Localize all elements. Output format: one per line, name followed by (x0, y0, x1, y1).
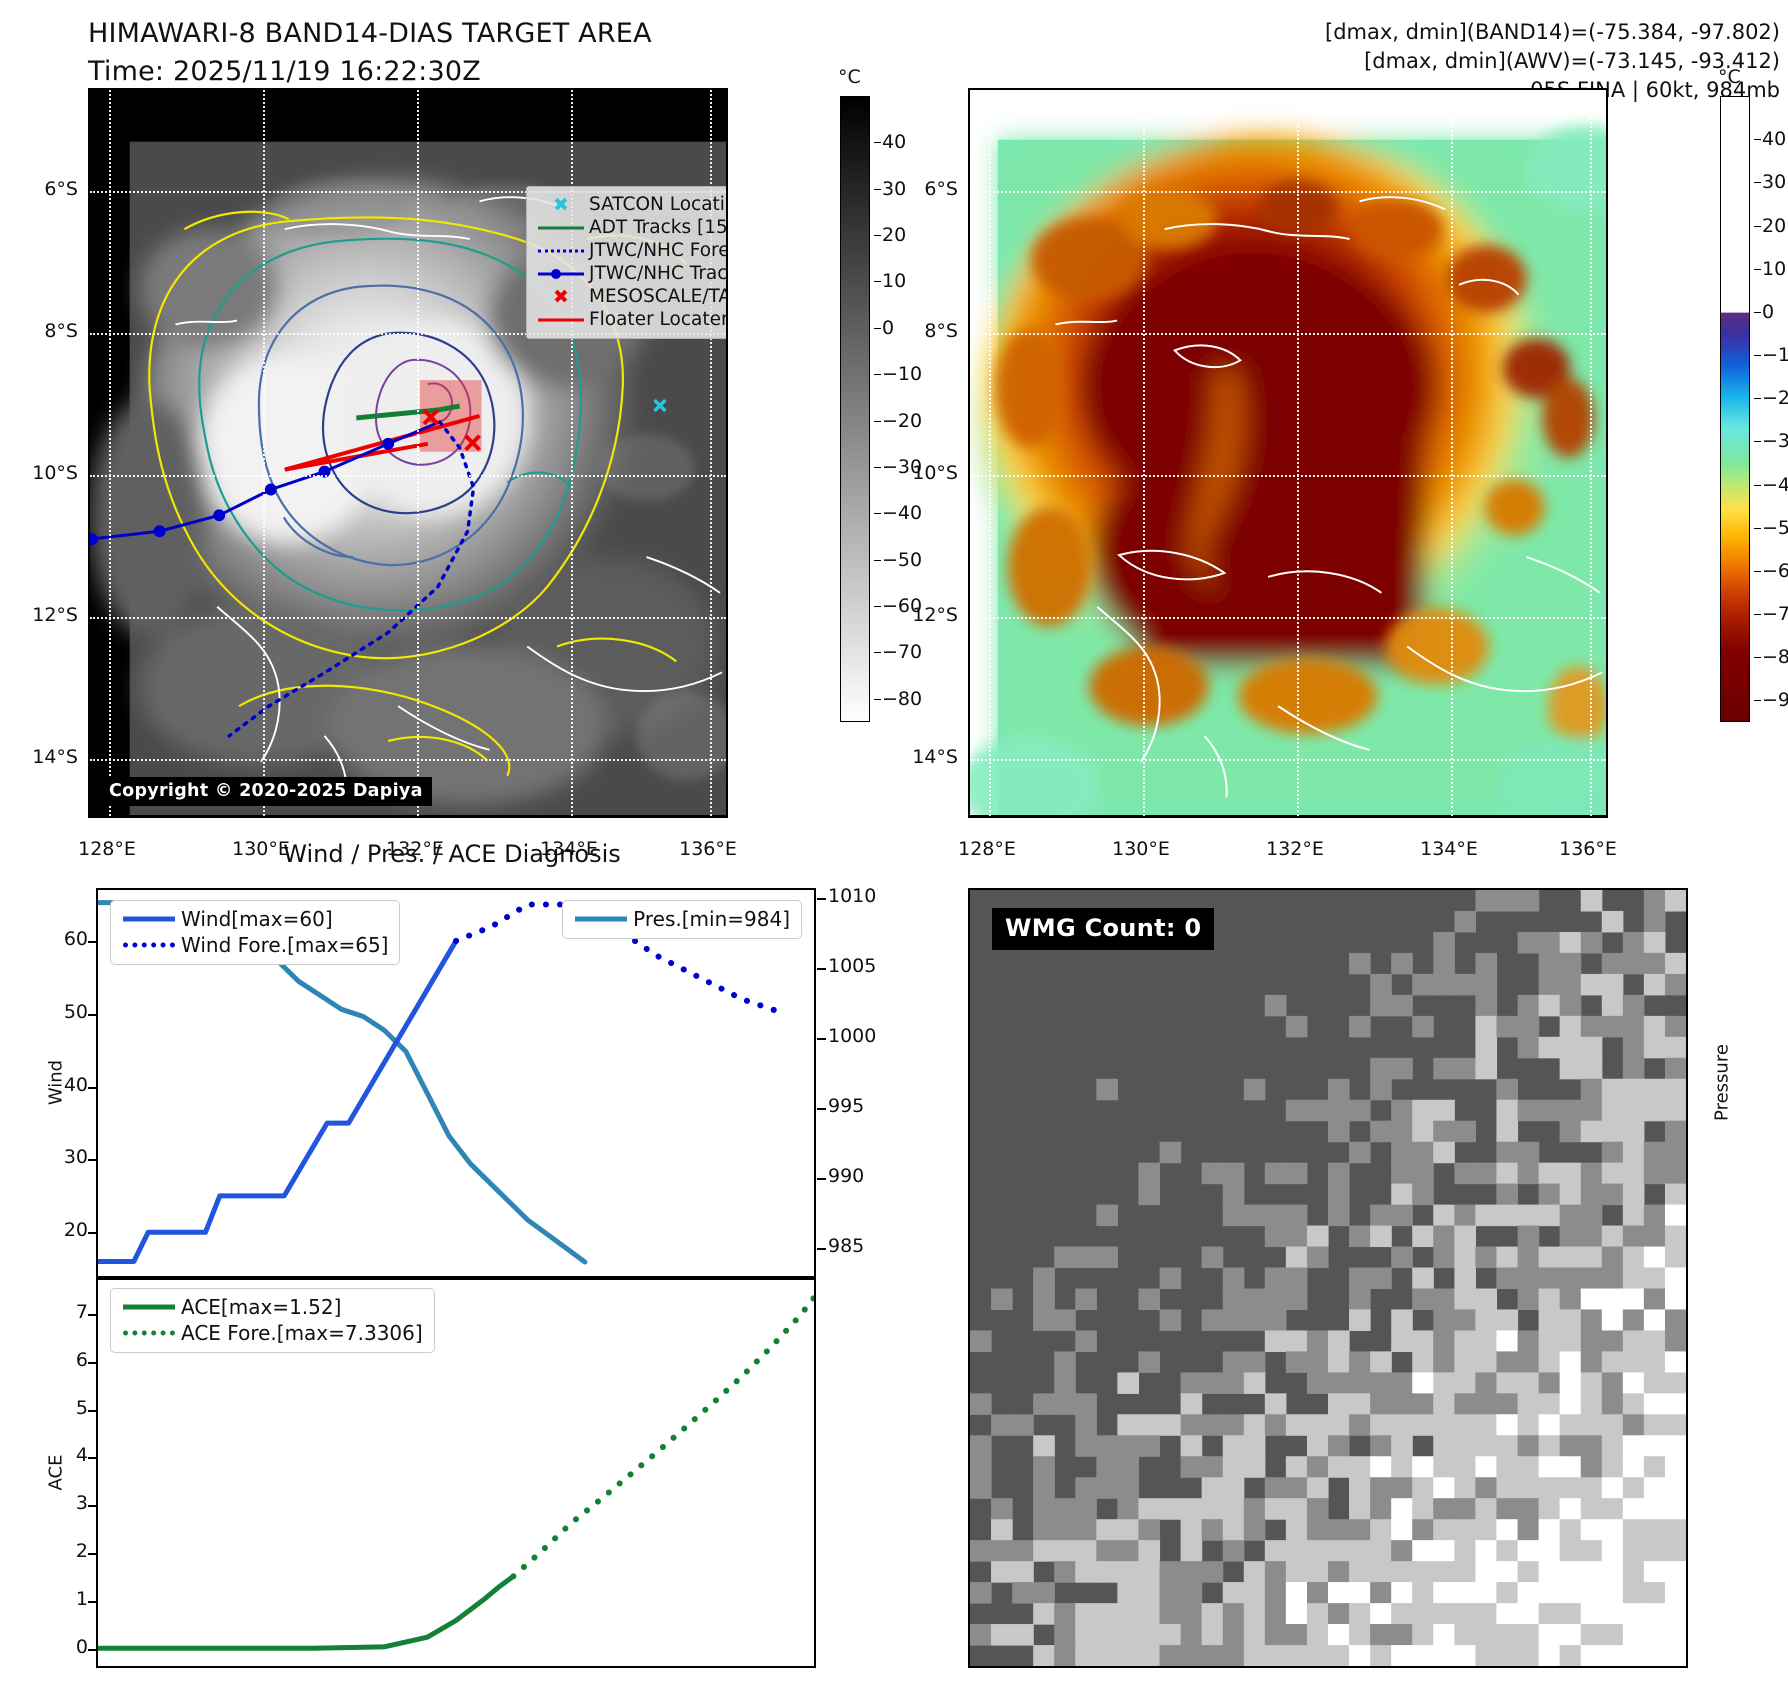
wmg-cell (970, 1435, 992, 1457)
lat-tick-6s: 6°S (880, 178, 958, 200)
wmg-panel[interactable]: WMG Count: 0 (968, 888, 1688, 1668)
wmg-cell (1286, 1582, 1308, 1604)
wmg-cell (1370, 1519, 1392, 1541)
wmg-cell (1370, 1540, 1392, 1562)
wmg-cell (1370, 1393, 1392, 1415)
ace-tick (88, 1553, 97, 1555)
wmg-cell (1539, 1498, 1561, 1520)
lon-tick-128e: 128°E (958, 838, 1016, 860)
wmg-cell (1475, 1058, 1497, 1080)
wmg-cell (1454, 1058, 1476, 1080)
legend-item-pressure: Pres.[min=984] (571, 906, 790, 932)
wmg-cell (1433, 1477, 1455, 1499)
wmg-cell (1391, 1393, 1413, 1415)
wmg-cell (1560, 1393, 1582, 1415)
wmg-cell (1181, 1582, 1203, 1604)
wmg-cell (1391, 1624, 1413, 1646)
wmg-cell (1581, 1100, 1603, 1122)
colorbar-tick-label: −60 (1762, 560, 1788, 582)
wmg-cell (1496, 1372, 1518, 1394)
wmg-cell (1475, 974, 1497, 996)
wmg-cell (1581, 974, 1603, 996)
wmg-cell (1412, 1645, 1434, 1666)
wmg-cell (1244, 1414, 1266, 1436)
wmg-cell (1602, 1477, 1624, 1499)
wmg-cell (1433, 1393, 1455, 1415)
wmg-cell (1370, 1477, 1392, 1499)
wmg-cell (1602, 1351, 1624, 1373)
wmg-cell (1412, 1561, 1434, 1583)
wmg-cell (1496, 1267, 1518, 1289)
wmg-cell (1602, 1309, 1624, 1331)
wmg-cell (1370, 1603, 1392, 1625)
wmg-cell (1244, 1603, 1266, 1625)
wmg-cell (1328, 1393, 1350, 1415)
wmg-cell (1602, 1645, 1624, 1666)
wmg-cell (1665, 1414, 1686, 1436)
wmg-cell (1454, 1289, 1476, 1311)
wmg-cell (1539, 932, 1561, 954)
colorbar-tick (1754, 355, 1761, 356)
wmg-cell (1012, 1414, 1034, 1436)
wmg-cell (1202, 1414, 1224, 1436)
wmg-cell (1096, 1519, 1118, 1541)
copyright-stamp: Copyright © 2020-2025 Dapiya (100, 777, 432, 806)
wmg-cell (1496, 1603, 1518, 1625)
wmg-cell (1475, 1624, 1497, 1646)
wind-tick-label: 30 (40, 1146, 88, 1168)
wmg-cell (1560, 1645, 1582, 1666)
wmg-cell (1412, 1498, 1434, 1520)
pressure-tick (817, 898, 826, 900)
wmg-cell (1075, 1289, 1097, 1311)
wmg-cell (1496, 1016, 1518, 1038)
wmg-cell (1581, 1393, 1603, 1415)
wmg-cell (1223, 1645, 1245, 1666)
wmg-cell (1370, 1435, 1392, 1457)
colorbar-tick-label: −50 (882, 549, 922, 571)
wmg-cell (1454, 1247, 1476, 1269)
wmg-cell (1581, 1414, 1603, 1436)
wmg-cell (1581, 1163, 1603, 1185)
wmg-cell (1391, 1456, 1413, 1478)
wmg-cell (1454, 974, 1476, 996)
colorbar-tick-label: 20 (882, 224, 906, 246)
wmg-cell (1602, 1016, 1624, 1038)
wmg-cell (1286, 1456, 1308, 1478)
wmg-cell (1623, 1351, 1645, 1373)
wmg-cell (991, 1561, 1013, 1583)
wmg-cell (1033, 1477, 1055, 1499)
wmg-cell (1518, 995, 1540, 1017)
solid-line-icon (535, 216, 589, 239)
wmg-cell (1349, 1645, 1371, 1666)
wmg-cell (1644, 1037, 1666, 1059)
lon-tick-134e: 134°E (1420, 838, 1478, 860)
wmg-cell (1202, 1603, 1224, 1625)
wmg-cell (1181, 1561, 1203, 1583)
wmg-cell (1581, 1330, 1603, 1352)
wmg-cell (1328, 1435, 1350, 1457)
wmg-cell (1665, 1477, 1686, 1499)
ace-tick-label: 1 (40, 1588, 88, 1610)
pressure-tick-label: 1010 (828, 885, 876, 907)
wmg-cell (1096, 1477, 1118, 1499)
wmg-cell (1160, 1498, 1182, 1520)
wmg-cell (1117, 1414, 1139, 1436)
wmg-cell (1454, 1540, 1476, 1562)
wmg-cell (1475, 1477, 1497, 1499)
wmg-cell (1349, 1582, 1371, 1604)
wmg-cell (1518, 1247, 1540, 1269)
wmg-cell (1539, 1477, 1561, 1499)
wmg-cell (1265, 1645, 1287, 1666)
wmg-cell (1560, 1309, 1582, 1331)
wmg-cell (1096, 1645, 1118, 1666)
wmg-cell (1307, 1498, 1329, 1520)
lat-tick-6s: 6°S (0, 178, 78, 200)
wmg-cell (1349, 1414, 1371, 1436)
wmg-cell (1518, 1435, 1540, 1457)
wmg-cell (1117, 1624, 1139, 1646)
wmg-cell (1602, 1603, 1624, 1625)
wmg-cell (1518, 1372, 1540, 1394)
wmg-cell (1496, 890, 1518, 912)
wmg-cell (1539, 1414, 1561, 1436)
wmg-cell (1454, 1393, 1476, 1415)
wmg-cell (1623, 1330, 1645, 1352)
wmg-cell (1223, 1456, 1245, 1478)
wmg-cell (1307, 1477, 1329, 1499)
wmg-cell (1412, 1477, 1434, 1499)
wmg-cell (1475, 1393, 1497, 1415)
wind-pressure-chart[interactable]: Wind[max=60] Wind Fore.[max=65] Pres.[mi… (96, 888, 816, 1278)
wmg-cell (1075, 1519, 1097, 1541)
wmg-cell (1349, 1624, 1371, 1646)
wmg-cell (1539, 1330, 1561, 1352)
wmg-cell (1307, 1414, 1329, 1436)
colorbar-tick (1754, 614, 1761, 615)
wmg-cell (1644, 1645, 1666, 1666)
colorbar-tick-label: −70 (1762, 603, 1788, 625)
wmg-cell (1349, 1309, 1371, 1331)
chart-series-observed (98, 941, 456, 1262)
wmg-cell (1433, 1372, 1455, 1394)
wmg-cell (1602, 1519, 1624, 1541)
wmg-cell (1265, 1330, 1287, 1352)
wmg-cell (1223, 1603, 1245, 1625)
wmg-cell (1117, 1372, 1139, 1394)
wmg-cell (1433, 1582, 1455, 1604)
wmg-cell (1644, 1289, 1666, 1311)
wmg-cell (1075, 1645, 1097, 1666)
wmg-cell (1560, 1519, 1582, 1541)
wmg-cell (1181, 1414, 1203, 1436)
wmg-cell (1496, 1435, 1518, 1457)
wmg-cell (1033, 1603, 1055, 1625)
wmg-cell (1012, 1561, 1034, 1583)
wmg-cell (1644, 1498, 1666, 1520)
wmg-cell (1054, 1351, 1076, 1373)
colorbar-tick-label: −20 (882, 410, 922, 432)
wmg-cell (1286, 1603, 1308, 1625)
wmg-cell (1075, 1247, 1097, 1269)
ace-tick (88, 1601, 97, 1603)
wmg-cell (1054, 1519, 1076, 1541)
wmg-cell (1475, 1603, 1497, 1625)
wmg-cell (1349, 1477, 1371, 1499)
wmg-cell (1223, 1477, 1245, 1499)
wmg-cell (1117, 1645, 1139, 1666)
wmg-cell (1075, 1561, 1097, 1583)
wmg-cell (1602, 1267, 1624, 1289)
wmg-cell (1244, 1435, 1266, 1457)
wmg-cell (1412, 1142, 1434, 1164)
wmg-cell (1560, 1226, 1582, 1248)
wmg-cell (1602, 1456, 1624, 1478)
wmg-cell (1244, 1372, 1266, 1394)
wmg-cell (1644, 1519, 1666, 1541)
colorbar-tick (1754, 269, 1761, 270)
colorbar-tick (874, 281, 881, 282)
colorbar-tick-label: −90 (1762, 689, 1788, 711)
ace-axis-label: ACE (46, 1413, 67, 1533)
wmg-cell (1496, 1205, 1518, 1227)
colorbar-tick-label: −40 (1762, 474, 1788, 496)
wmg-cell (1560, 1561, 1582, 1583)
wmg-cell (1096, 1624, 1118, 1646)
wmg-cell (1665, 1163, 1686, 1185)
wmg-cell (1391, 1519, 1413, 1541)
wmg-cell (1623, 1309, 1645, 1331)
wmg-cell (1454, 1624, 1476, 1646)
wmg-cell (1539, 1582, 1561, 1604)
wmg-cell (1539, 1037, 1561, 1059)
wmg-cell (1623, 1267, 1645, 1289)
wmg-cell (1412, 1163, 1434, 1185)
wmg-cell (1138, 1184, 1160, 1206)
wmg-cell (1328, 1372, 1350, 1394)
wmg-cell (1202, 1477, 1224, 1499)
wmg-cell (1623, 1414, 1645, 1436)
wmg-cell (1265, 1309, 1287, 1331)
wmg-cell (1518, 1414, 1540, 1436)
wmg-cell (1454, 1435, 1476, 1457)
wmg-cell (1391, 1142, 1413, 1164)
wmg-cell (1265, 1582, 1287, 1604)
pressure-tick-label: 1000 (828, 1025, 876, 1047)
ace-tick (88, 1505, 97, 1507)
wmg-cell (1602, 1079, 1624, 1101)
wmg-cell (1391, 1247, 1413, 1269)
wmg-cell (1644, 1247, 1666, 1269)
wmg-cell (1223, 1519, 1245, 1541)
wmg-cell (1349, 1519, 1371, 1541)
wmg-cell (1412, 1351, 1434, 1373)
wmg-cell (1581, 1289, 1603, 1311)
ir-satellite-map[interactable]: ✖ SATCON Locations [NONE] ADT Tracks [15… (88, 88, 728, 818)
wmg-cell (1244, 1561, 1266, 1583)
wmg-cell (1581, 1372, 1603, 1394)
ace-tick-label: 6 (40, 1349, 88, 1371)
wmg-cell (1012, 1540, 1034, 1562)
wmg-cell (1581, 1247, 1603, 1269)
wmg-cell (1054, 1603, 1076, 1625)
wmg-cell (1644, 1435, 1666, 1457)
wmg-cell (1518, 1226, 1540, 1248)
wmg-cell (1433, 1289, 1455, 1311)
pressure-tick (817, 1178, 826, 1180)
wmg-cell (1391, 1498, 1413, 1520)
wmg-cell (1644, 890, 1666, 912)
wmg-cell (1539, 974, 1561, 996)
wmg-cell (1644, 1456, 1666, 1478)
wmg-cell (1223, 1414, 1245, 1436)
wmg-cell (1602, 1184, 1624, 1206)
wmg-cell (1623, 1142, 1645, 1164)
wmg-cell (1075, 1498, 1097, 1520)
wmg-cell (1370, 974, 1392, 996)
wmg-cell (1496, 1414, 1518, 1436)
wmg-cell (1602, 974, 1624, 996)
wmg-cell (1307, 1519, 1329, 1541)
wmg-cell (1433, 1456, 1455, 1478)
wmg-cell (1665, 1184, 1686, 1206)
wmg-cell (1391, 1309, 1413, 1331)
pressure-axis-label: Pressure (1712, 1023, 1733, 1143)
wmg-cell (1518, 1561, 1540, 1583)
wmg-cell (1623, 1372, 1645, 1394)
wmg-cell (1244, 1519, 1266, 1541)
wmg-cell (1202, 1456, 1224, 1478)
wmg-cell (1602, 995, 1624, 1017)
wmg-cell (1160, 1603, 1182, 1625)
wmg-cell (1581, 890, 1603, 912)
wmg-cell (1433, 1519, 1455, 1541)
wmg-cell (1454, 1309, 1476, 1331)
wmg-cell (1560, 932, 1582, 954)
wmg-cell (1496, 1184, 1518, 1206)
wmg-cell (1539, 1163, 1561, 1185)
wmg-cell (1518, 1645, 1540, 1666)
wmg-cell (1138, 1414, 1160, 1436)
wmg-cell (1433, 932, 1455, 954)
wmg-cell (1328, 1561, 1350, 1583)
wmg-cell (1454, 1477, 1476, 1499)
wmg-cell (1412, 1414, 1434, 1436)
wmg-cell (1623, 1645, 1645, 1666)
wmg-cell (1244, 1351, 1266, 1373)
wmg-cell (1475, 1351, 1497, 1373)
wmg-cell (1328, 1351, 1350, 1373)
wmg-cell (1433, 1330, 1455, 1352)
wmg-cell (1286, 1100, 1308, 1122)
wmg-cell (1412, 1519, 1434, 1541)
wmg-grid-image (970, 890, 1686, 1666)
wmg-cell (1454, 1226, 1476, 1248)
wmg-cell (1581, 1037, 1603, 1059)
wmg-cell (1581, 1540, 1603, 1562)
wmg-cell (1433, 1561, 1455, 1583)
awv-satellite-map[interactable] (968, 88, 1608, 818)
colorbar-tick (1754, 312, 1761, 313)
wmg-cell (1644, 1330, 1666, 1352)
wmg-cell (1075, 1624, 1097, 1646)
wmg-cell (1328, 1456, 1350, 1478)
wmg-cell (1349, 1267, 1371, 1289)
wmg-cell (1518, 1393, 1540, 1415)
wmg-cell (1560, 1330, 1582, 1352)
ace-chart[interactable]: ACE[max=1.52] ACE Fore.[max=7.3306] (96, 1278, 816, 1668)
wmg-cell (1560, 1456, 1582, 1478)
page-timestamp: Time: 2025/11/19 16:22:30Z (88, 56, 652, 87)
wmg-cell (1307, 1247, 1329, 1269)
ir-colorbar-title: °C (838, 66, 861, 88)
colorbar-tick-label: 40 (882, 131, 906, 153)
wmg-cell (1412, 1267, 1434, 1289)
ace-tick (88, 1457, 97, 1459)
wmg-cell (1623, 1456, 1645, 1478)
wmg-cell (1644, 1351, 1666, 1373)
wmg-cell (1518, 1498, 1540, 1520)
ace-legend: ACE[max=1.52] ACE Fore.[max=7.3306] (110, 1288, 435, 1353)
wmg-cell (1096, 1456, 1118, 1478)
wmg-cell (1665, 1247, 1686, 1269)
wmg-cell (1202, 1645, 1224, 1666)
wmg-cell (1075, 1477, 1097, 1499)
wmg-cell (1202, 1561, 1224, 1583)
wmg-cell (1581, 1184, 1603, 1206)
legend-label: ACE Fore.[max=7.3306] (181, 1321, 423, 1345)
wmg-cell (1433, 1309, 1455, 1331)
wmg-cell (1623, 1016, 1645, 1038)
pressure-tick-label: 985 (828, 1235, 864, 1257)
wmg-cell (1181, 1435, 1203, 1457)
wmg-cell (1160, 1309, 1182, 1331)
solid-line-icon (119, 906, 181, 932)
wmg-cell (1160, 1645, 1182, 1666)
wmg-cell (1033, 1582, 1055, 1604)
wmg-cell (1623, 1477, 1645, 1499)
wmg-cell (1518, 1267, 1540, 1289)
wmg-cell (1223, 1372, 1245, 1394)
wmg-cell (1454, 1205, 1476, 1227)
wmg-cell (1202, 1372, 1224, 1394)
wmg-cell (1433, 1205, 1455, 1227)
wmg-cell (1244, 1582, 1266, 1604)
wmg-cell (1454, 1498, 1476, 1520)
wmg-cell (1223, 1205, 1245, 1227)
page-title: HIMAWARI-8 BAND14-DIAS TARGET AREA (88, 18, 652, 49)
wmg-cell (1328, 1603, 1350, 1625)
pressure-tick (817, 1108, 826, 1110)
wmg-cell (1644, 1226, 1666, 1248)
wmg-cell (1307, 1100, 1329, 1122)
wmg-cell (1412, 1016, 1434, 1038)
wmg-cell (1665, 1079, 1686, 1101)
wmg-cell (1096, 1079, 1118, 1101)
wmg-cell (1475, 890, 1497, 912)
wmg-cell (1475, 953, 1497, 975)
wmg-cell (1475, 1372, 1497, 1394)
wmg-cell (1138, 1435, 1160, 1457)
legend-item-wind: Wind[max=60] (119, 906, 388, 932)
wmg-cell (1117, 1519, 1139, 1541)
wmg-cell (1560, 995, 1582, 1017)
chart-series-forecast (513, 1298, 814, 1577)
wmg-cell (1286, 1205, 1308, 1227)
wmg-cell (1665, 1351, 1686, 1373)
